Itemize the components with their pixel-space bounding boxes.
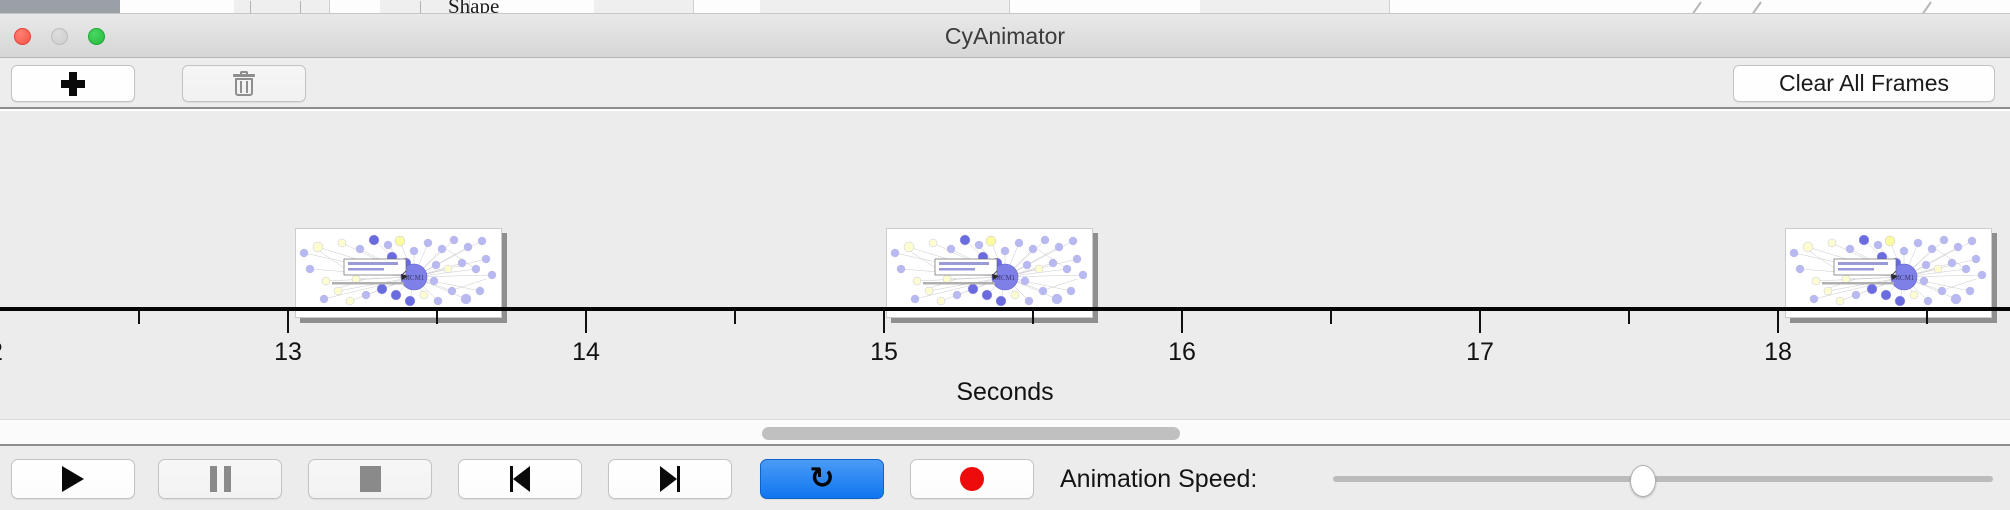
svg-text:MCM1: MCM1 [995, 274, 1016, 282]
scrollbar-thumb[interactable] [762, 427, 1180, 440]
trash-icon [233, 71, 255, 97]
slider-track [1333, 476, 1993, 482]
svg-text:MCM1: MCM1 [404, 274, 425, 282]
axis-tick-minor [1330, 311, 1332, 324]
delete-frame-button[interactable] [182, 65, 306, 102]
add-frame-button[interactable] [11, 65, 135, 102]
play-button[interactable] [11, 459, 135, 499]
play-icon [62, 466, 84, 492]
cyanimator-window: Shape CyAnimator Clear All Frames MCM1MC… [0, 0, 2010, 510]
bg-slash [1751, 1, 1762, 14]
bg-tick [250, 1, 251, 14]
timeline-panel[interactable]: MCM1MCM1MCM1 [0, 111, 2010, 419]
bg-slash [1691, 1, 1702, 14]
pause-icon [210, 466, 231, 492]
axis-tick-minor [1032, 311, 1034, 324]
bg-tick [300, 1, 301, 14]
skip-to-end-button[interactable] [608, 459, 732, 499]
bg-tick [420, 1, 421, 14]
stop-button[interactable] [308, 459, 432, 499]
skip-to-start-button[interactable] [458, 459, 582, 499]
skip-back-icon [508, 466, 532, 492]
axis-tick-major [1181, 311, 1183, 333]
animation-speed-slider[interactable] [1333, 459, 1993, 499]
axis-tick-major [585, 311, 587, 333]
axis-tick-minor [138, 311, 140, 324]
bg-chip [1200, 0, 1390, 14]
record-icon [960, 467, 984, 491]
axis-tick-label: 12 [0, 338, 3, 367]
stop-icon [360, 466, 381, 492]
animation-speed-label: Animation Speed: [1060, 459, 1257, 499]
timeline-scrollbar[interactable] [0, 419, 2010, 446]
slider-thumb[interactable] [1630, 465, 1656, 497]
axis-tick-major [287, 311, 289, 333]
axis-title: Seconds [0, 378, 2010, 407]
skip-forward-icon [658, 466, 682, 492]
record-button[interactable] [910, 459, 1034, 499]
loop-button[interactable]: ↻ [760, 459, 884, 499]
background-window-strip: Shape [0, 0, 2010, 14]
bg-chip [594, 0, 694, 14]
timeline-axis-line [0, 307, 2010, 311]
window-title: CyAnimator [0, 14, 2010, 58]
axis-tick-label: 16 [1168, 338, 1196, 367]
bg-chip [760, 0, 1010, 14]
axis-tick-label: 18 [1764, 338, 1792, 367]
frame-network-preview: MCM1 [295, 228, 502, 318]
axis-tick-label: 14 [572, 338, 600, 367]
axis-tick-label: 15 [870, 338, 898, 367]
bg-dark-chip [0, 0, 120, 13]
clear-all-frames-button[interactable]: Clear All Frames [1733, 65, 1995, 102]
frame-network-preview: MCM1 [886, 228, 1093, 318]
bg-chip [234, 0, 330, 14]
bg-slash [1921, 1, 1932, 14]
axis-tick-major [883, 311, 885, 333]
axis-tick-major [1479, 311, 1481, 333]
axis-tick-minor [436, 311, 438, 324]
transport-bar: ↻ Animation Speed: [0, 446, 2010, 510]
axis-tick-minor [734, 311, 736, 324]
title-bar: CyAnimator [0, 14, 2010, 58]
pause-button[interactable] [158, 459, 282, 499]
toolbar: Clear All Frames [0, 58, 2010, 109]
axis-tick-minor [1628, 311, 1630, 324]
frame-network-preview: MCM1 [1785, 228, 1992, 318]
loop-icon: ↻ [809, 464, 834, 494]
svg-text:MCM1: MCM1 [1894, 274, 1915, 282]
axis-tick-minor [1926, 311, 1928, 324]
axis-tick-label: 13 [274, 338, 302, 367]
plus-icon [60, 71, 86, 97]
axis-tick-label: 17 [1466, 338, 1494, 367]
axis-tick-major [1777, 311, 1779, 333]
background-window-text: Shape [448, 0, 499, 14]
